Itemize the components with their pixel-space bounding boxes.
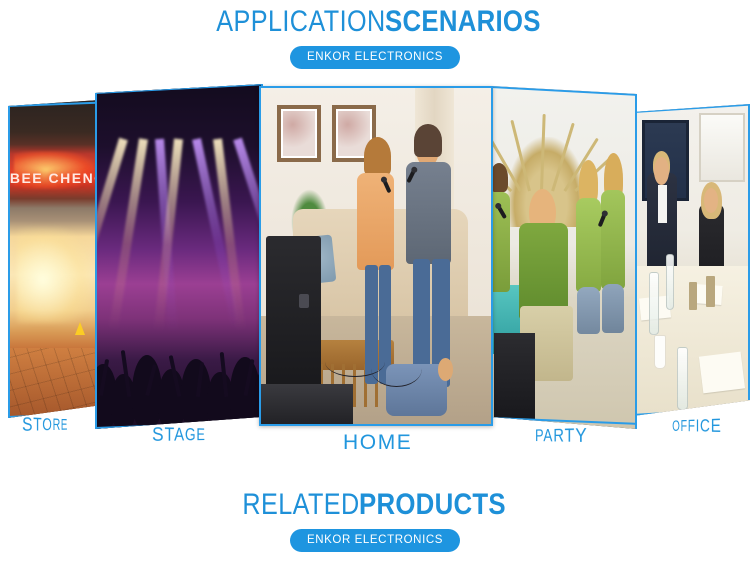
scenario-panel-office[interactable] bbox=[633, 104, 750, 416]
person-girl-far-right bbox=[599, 161, 631, 381]
store-scene: BEE CHENG bbox=[8, 100, 100, 418]
office-scene bbox=[633, 104, 750, 416]
water-bottle bbox=[677, 347, 688, 409]
panel-label-stage: STAGE bbox=[152, 424, 206, 447]
scenario-panel-home[interactable] bbox=[259, 86, 493, 426]
scenario-carousel: BEE CHENG bbox=[0, 0, 750, 470]
related-products-header: RELATEDPRODUCTS ENKOR ELECTRONICS bbox=[0, 488, 750, 552]
section-title-light: RELATED bbox=[242, 488, 359, 522]
store-sign-text: BEE CHENG bbox=[10, 170, 100, 186]
green-tshirt bbox=[519, 223, 569, 319]
tv-stand bbox=[261, 384, 353, 424]
store-floor-tiles bbox=[8, 348, 100, 418]
manager-shirt bbox=[658, 185, 667, 222]
panel-label-office: OFFICE bbox=[672, 416, 722, 438]
scenario-panel-party[interactable] bbox=[491, 86, 637, 429]
party-scene bbox=[491, 86, 637, 429]
brand-badge-bottom: ENKOR ELECTRONICS bbox=[290, 529, 460, 552]
laptop-paper bbox=[699, 351, 745, 393]
person-girl-left bbox=[491, 168, 514, 340]
pencil-cup bbox=[689, 282, 697, 310]
stage-scene bbox=[95, 84, 263, 429]
person-singing-man bbox=[404, 132, 462, 387]
home-scene bbox=[261, 88, 491, 424]
television bbox=[266, 236, 321, 397]
water-bottle bbox=[666, 254, 674, 310]
crowd-silhouette bbox=[95, 305, 263, 429]
panel-label-party: PARTY bbox=[535, 425, 588, 448]
panel-label-home: HOME bbox=[343, 431, 412, 455]
speaker-box bbox=[494, 333, 535, 429]
caution-cone-icon bbox=[75, 322, 85, 335]
section-title-bold: PRODUCTS bbox=[359, 488, 506, 522]
section-title: RELATEDPRODUCTS bbox=[0, 488, 750, 522]
pencil-cup bbox=[706, 276, 715, 307]
water-bottle bbox=[649, 272, 658, 334]
wall-picture-frame bbox=[277, 105, 321, 162]
scenario-panel-stage[interactable] bbox=[95, 84, 263, 429]
scenario-panel-store[interactable]: BEE CHENG bbox=[8, 100, 100, 418]
mic-cable bbox=[371, 350, 422, 387]
whiteboard bbox=[699, 113, 746, 182]
panel-label-store: STORE bbox=[22, 414, 68, 437]
paper-cup bbox=[654, 335, 666, 369]
